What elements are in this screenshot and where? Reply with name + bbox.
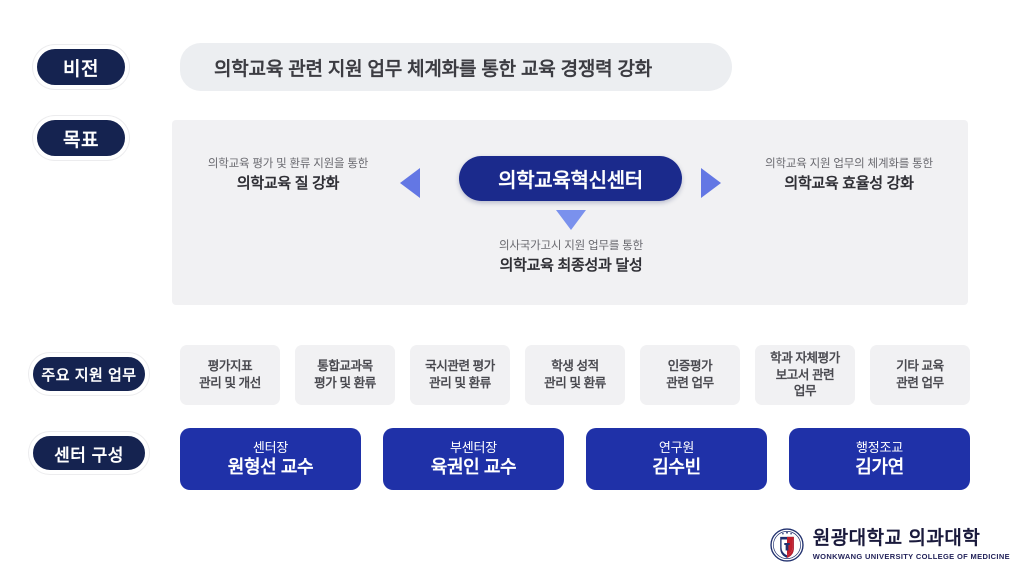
vision-statement: 의학교육 관련 지원 업무 체계화를 통한 교육 경쟁력 강화 [180,54,652,81]
university-name-ko: 원광대학교 의과대학 [813,529,1010,550]
section-label-vision-text: 비전 [63,54,99,81]
arrow-down-icon [556,210,586,230]
staff-name: 원형선 교수 [228,456,313,479]
goal-right-subtitle: 의학교육 지원 업무의 체계화를 통한 [742,156,956,173]
support-task-box: 국시관련 평가 관리 및 환류 [410,345,510,405]
staff-name: 김가연 [855,456,903,479]
support-task-box: 평가지표 관리 및 개선 [180,345,280,405]
staff-name: 김수빈 [652,456,700,479]
support-task-box: 인증평가 관련 업무 [640,345,740,405]
goal-right-title: 의학교육 효율성 강화 [742,173,956,195]
support-task-box: 학생 성적 관리 및 환류 [525,345,625,405]
staff-role: 부센터장 [450,440,497,456]
arrow-right-icon [701,168,721,198]
goal-item-left: 의학교육 평가 및 환류 지원을 통한 의학교육 질 강화 [184,156,392,194]
support-task-box: 통합교과목 평가 및 환류 [295,345,395,405]
staff-name: 육권인 교수 [431,456,516,479]
goal-panel: 의학교육 평가 및 환류 지원을 통한 의학교육 질 강화 의학교육혁신센터 의… [172,120,968,305]
section-label-staff-text: 센터 구성 [54,441,124,466]
support-task-box: 기타 교육 관련 업무 [870,345,970,405]
staff-card: 연구원김수빈 [586,428,767,490]
section-label-goal-text: 목표 [63,125,99,152]
section-label-vision: 비전 [33,45,129,89]
vision-banner: 의학교육 관련 지원 업무 체계화를 통한 교육 경쟁력 강화 [180,43,732,91]
wonkwang-seal-icon [770,528,804,562]
support-task-row: 평가지표 관리 및 개선통합교과목 평가 및 환류국시관련 평가 관리 및 환류… [180,345,970,405]
staff-card: 행정조교김가연 [789,428,970,490]
goal-left-title: 의학교육 질 강화 [184,173,392,195]
section-label-tasks-text: 주요 지원 업무 [41,364,136,385]
center-badge-text: 의학교육혁신센터 [498,164,643,193]
goal-bottom-subtitle: 의사국가고시 지원 업무를 통한 [458,238,684,255]
staff-role: 센터장 [253,440,288,456]
section-label-staff: 센터 구성 [29,432,149,474]
goal-item-right: 의학교육 지원 업무의 체계화를 통한 의학교육 효율성 강화 [742,156,956,194]
goal-bottom-title: 의학교육 최종성과 달성 [458,255,684,277]
staff-card: 센터장원형선 교수 [180,428,361,490]
center-staff-row: 센터장원형선 교수부센터장육권인 교수연구원김수빈행정조교김가연 [180,428,970,490]
goal-left-subtitle: 의학교육 평가 및 환류 지원을 통한 [184,156,392,173]
section-label-goal: 목표 [33,116,129,160]
arrow-left-icon [400,168,420,198]
goal-item-bottom: 의사국가고시 지원 업무를 통한 의학교육 최종성과 달성 [458,238,684,276]
staff-role: 연구원 [659,440,694,456]
support-task-box: 학과 자체평가 보고서 관련 업무 [755,345,855,405]
university-logo-text: 원광대학교 의과대학 WONKWANG UNIVERSITY COLLEGE O… [813,529,1010,561]
university-name-en: WONKWANG UNIVERSITY COLLEGE OF MEDICINE [813,552,1010,561]
staff-card: 부센터장육권인 교수 [383,428,564,490]
staff-role: 행정조교 [856,440,903,456]
section-label-tasks: 주요 지원 업무 [29,353,149,395]
center-badge: 의학교육혁신센터 [459,156,682,201]
university-logo: 원광대학교 의과대학 WONKWANG UNIVERSITY COLLEGE O… [770,528,1010,562]
